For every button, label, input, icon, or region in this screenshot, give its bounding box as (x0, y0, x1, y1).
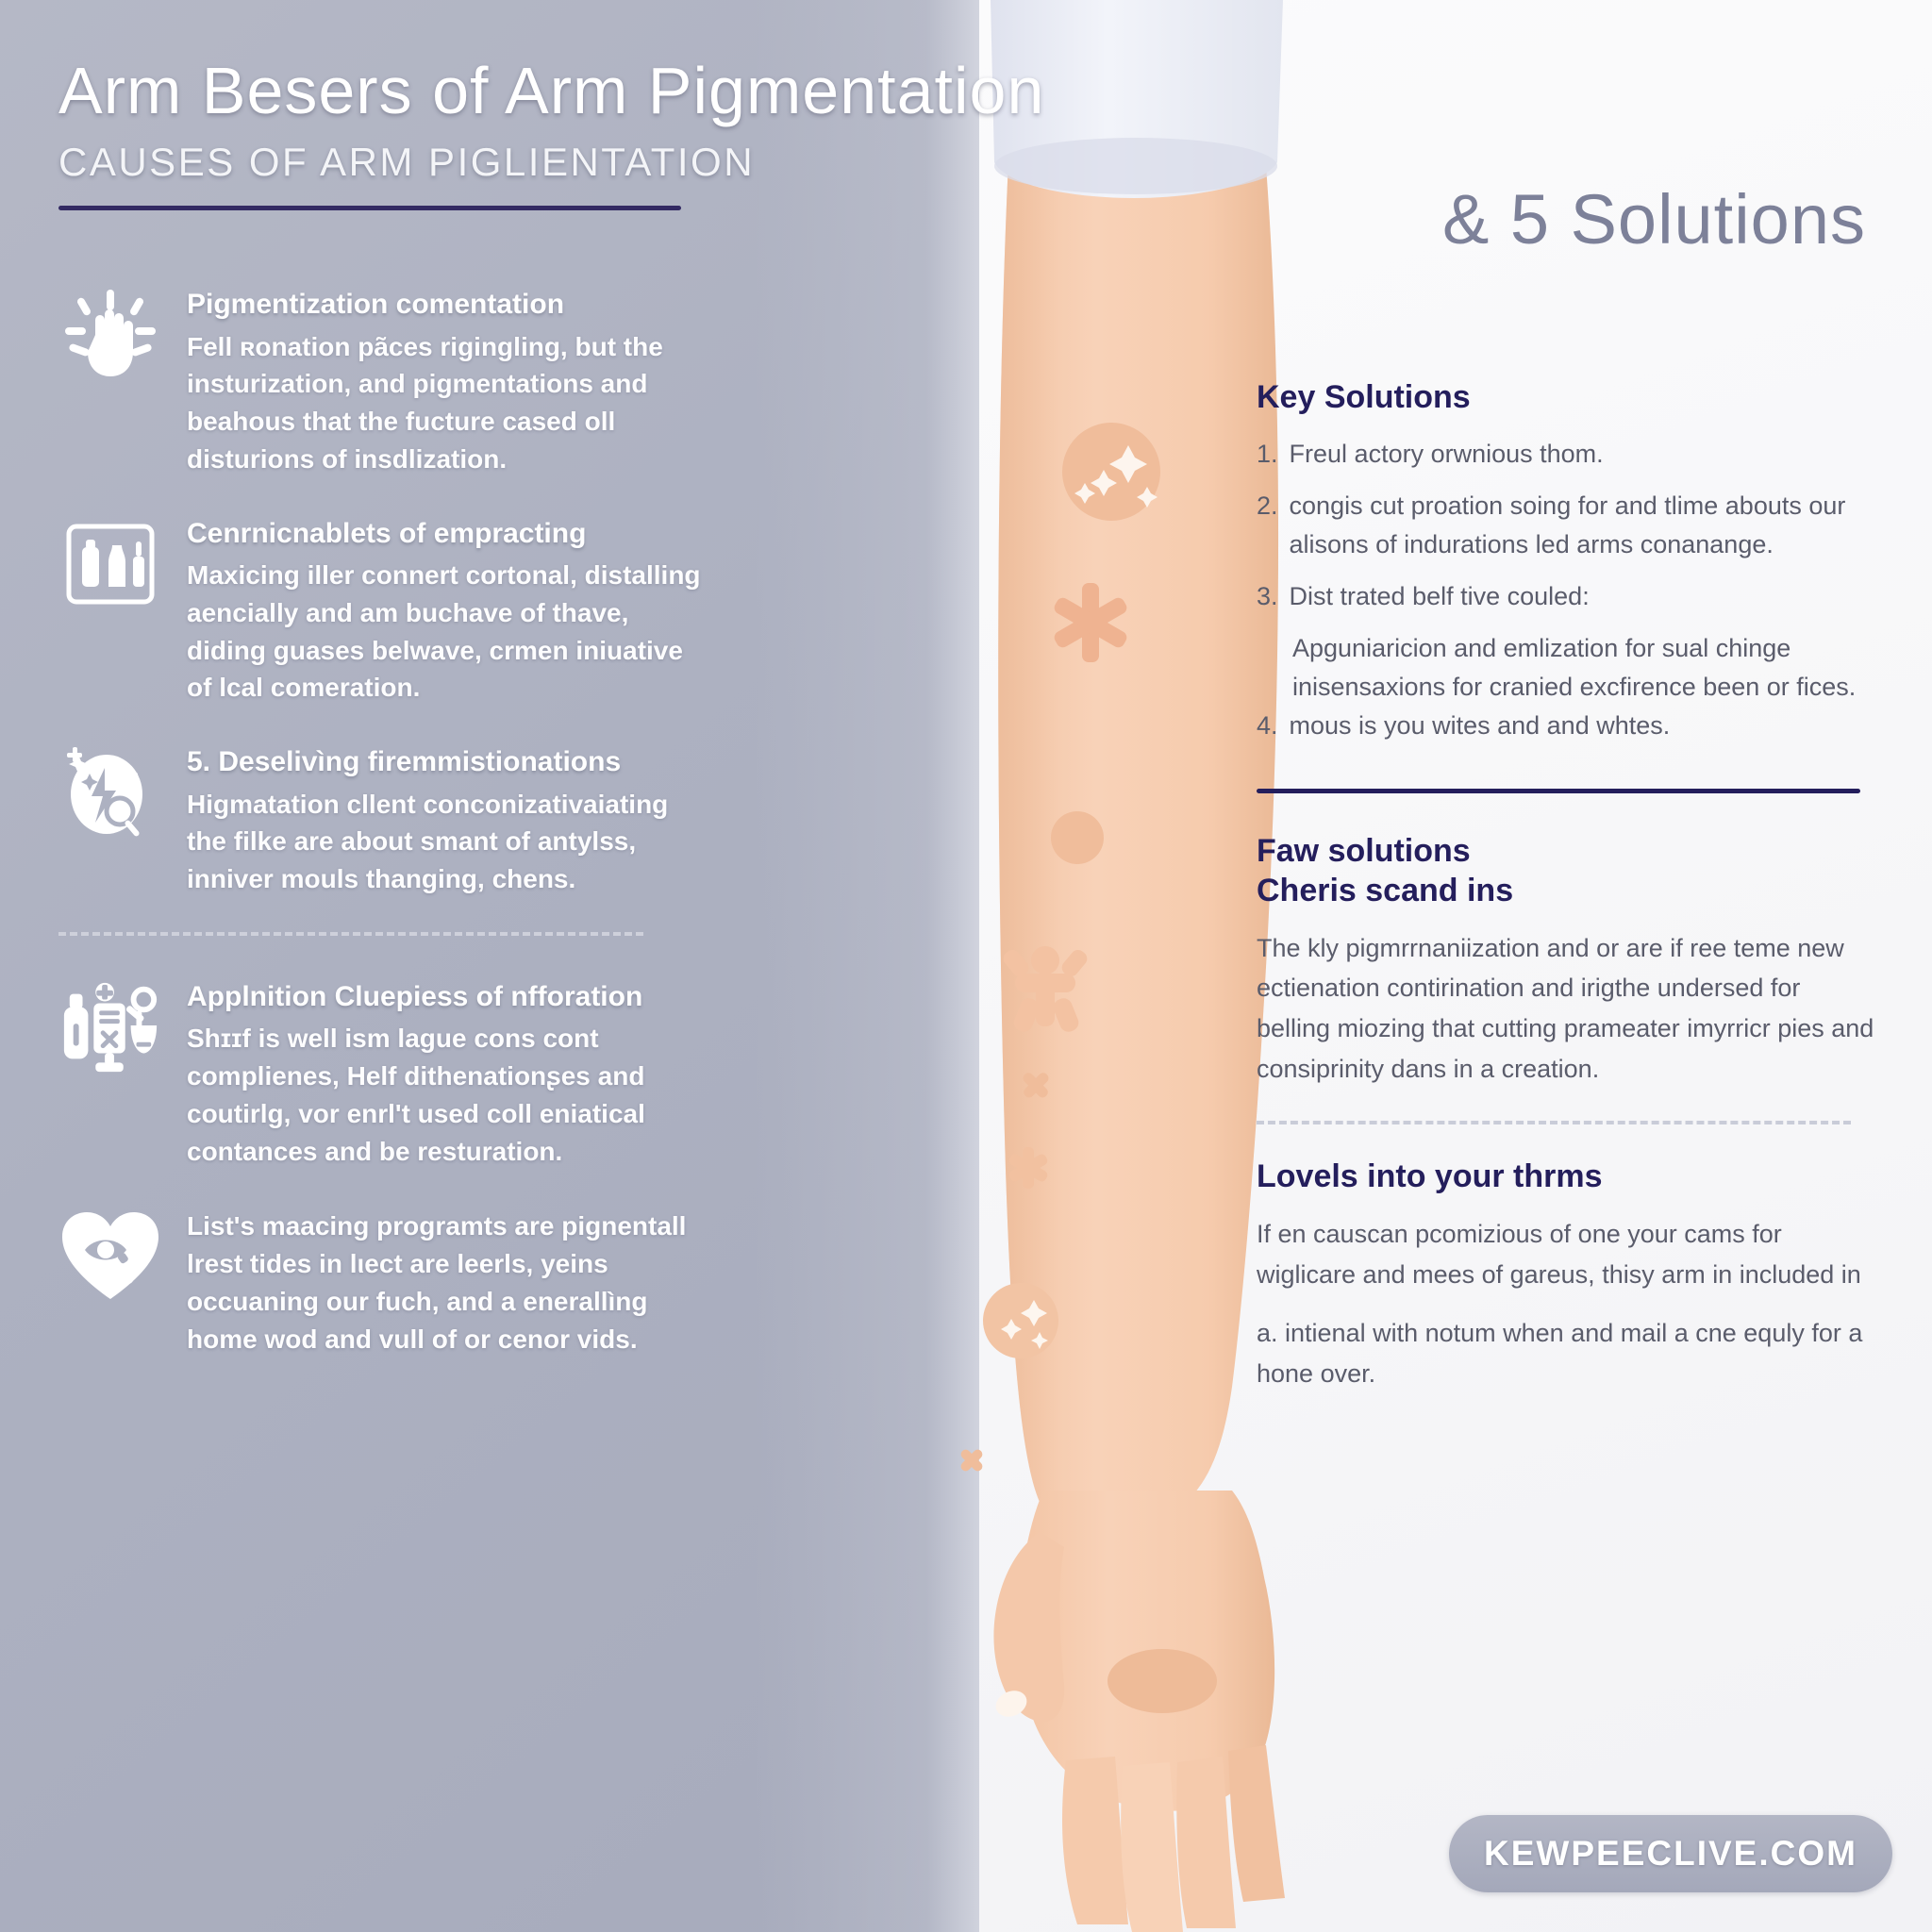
list-text: mous is you wites and and whtes. (1290, 707, 1879, 745)
levels-body-1: If en causcan pcomizious of one your cam… (1257, 1214, 1879, 1294)
heart-eye-icon (58, 1204, 162, 1307)
list-text: congis cut proation soing for and tlime … (1290, 487, 1879, 564)
list-number: 4. (1257, 707, 1278, 745)
faw-solutions-body: The kly pigmrrnaniization and or are if … (1257, 928, 1879, 1090)
skincare-products-icon (58, 512, 162, 616)
hand-rays-icon (58, 283, 162, 387)
faw-heading-line-2: Cheris scand ins (1257, 871, 1879, 911)
list-item: 2. congis cut proation soing for and tli… (1257, 487, 1879, 564)
list-subtext: Apguniaricion and emlization for sual ch… (1257, 629, 1879, 707)
list-number: 3. (1257, 577, 1278, 616)
title-divider (58, 206, 681, 210)
causes-list: Pigmentization comentation Fell ʀonation… (58, 283, 709, 1391)
cause-block: Cenrnicnablets of empracting Maxicing il… (58, 512, 709, 708)
infographic-poster: Arm Besers of Arm Pigmentation CAUSES OF… (0, 0, 1932, 1932)
cause-block: Pigmentization comentation Fell ʀonation… (58, 283, 709, 478)
cause-body: Shɪɪf is well ism lague cons cont compli… (187, 1020, 709, 1170)
x-mark-2 (959, 1448, 985, 1474)
key-solutions-list-cont: 4. mous is you wites and and whtes. (1257, 707, 1879, 745)
cause-heading: Applnition Cluepiess of nfforation (187, 979, 709, 1015)
list-item: 3. Dist trated belf tive couled: (1257, 577, 1879, 616)
cause-body: Fell ʀonation pãces rigingling, but the … (187, 328, 709, 478)
pigment-spot-small-1 (1051, 811, 1104, 864)
pigment-spot-large-1 (1062, 423, 1160, 521)
faw-solutions-heading: Faw solutions Cheris scand ins (1257, 831, 1879, 911)
cause-body: Higmatation cllent conconizativaiating t… (187, 786, 709, 898)
faw-heading-line-1: Faw solutions (1257, 831, 1879, 872)
list-number: 1. (1257, 435, 1278, 474)
dropper-tools-icon (58, 975, 162, 1079)
section-divider-dashed-right (1257, 1121, 1851, 1124)
hand-pigment-spot (1108, 1649, 1217, 1713)
website-badge-label: KEWPEECLIVE.COM (1484, 1834, 1857, 1874)
list-text: Freul actory orwnious thom. (1290, 435, 1879, 474)
cause-heading: 5. Deselivìng firemmistionations (187, 744, 709, 780)
magnifier-bolt-icon (58, 741, 162, 844)
cause-body: Maxicing iller connert cortonal, distall… (187, 557, 709, 707)
key-solutions-heading: Key Solutions (1257, 377, 1879, 418)
list-number: 2. (1257, 487, 1278, 564)
finger-4 (1228, 1745, 1285, 1902)
list-item: 1. Freul actory orwnious thom. (1257, 435, 1879, 474)
cause-heading: Pigmentization comentation (187, 287, 709, 323)
cause-body: List's maacing programts are pignentall … (187, 1207, 709, 1357)
website-badge[interactable]: KEWPEECLIVE.COM (1449, 1815, 1892, 1892)
pigment-spot-large-2 (983, 1283, 1058, 1358)
right-headline: & 5 Solutions (1442, 179, 1866, 259)
key-solutions-list: 1. Freul actory orwnious thom. 2. congis… (1257, 435, 1879, 616)
page-subtitle: CAUSES OF ARM PIGLIENTATION (58, 140, 1285, 185)
section-divider-dashed (58, 932, 643, 936)
cause-block: List's maacing programts are pignentall … (58, 1204, 709, 1357)
list-text: Dist trated belf tive couled: (1290, 577, 1879, 616)
levels-heading: Lovels into your thrms (1257, 1157, 1879, 1197)
cause-heading: Cenrnicnablets of empracting (187, 516, 709, 552)
section-divider-solid (1257, 789, 1860, 793)
list-item: 4. mous is you wites and and whtes. (1257, 707, 1879, 745)
poster-header: Arm Besers of Arm Pigmentation CAUSES OF… (58, 57, 1285, 210)
cause-block: Applnition Cluepiess of nfforation Shɪɪf… (58, 975, 709, 1171)
cause-block: 5. Deselivìng firemmistionations Higmata… (58, 741, 709, 898)
solutions-panel: Key Solutions 1. Freul actory orwnious t… (1257, 377, 1879, 1412)
page-title: Arm Besers of Arm Pigmentation (58, 57, 1285, 126)
levels-body-2: a. intienal with notum when and mail a c… (1257, 1313, 1879, 1393)
thumb-shape (993, 1532, 1064, 1722)
